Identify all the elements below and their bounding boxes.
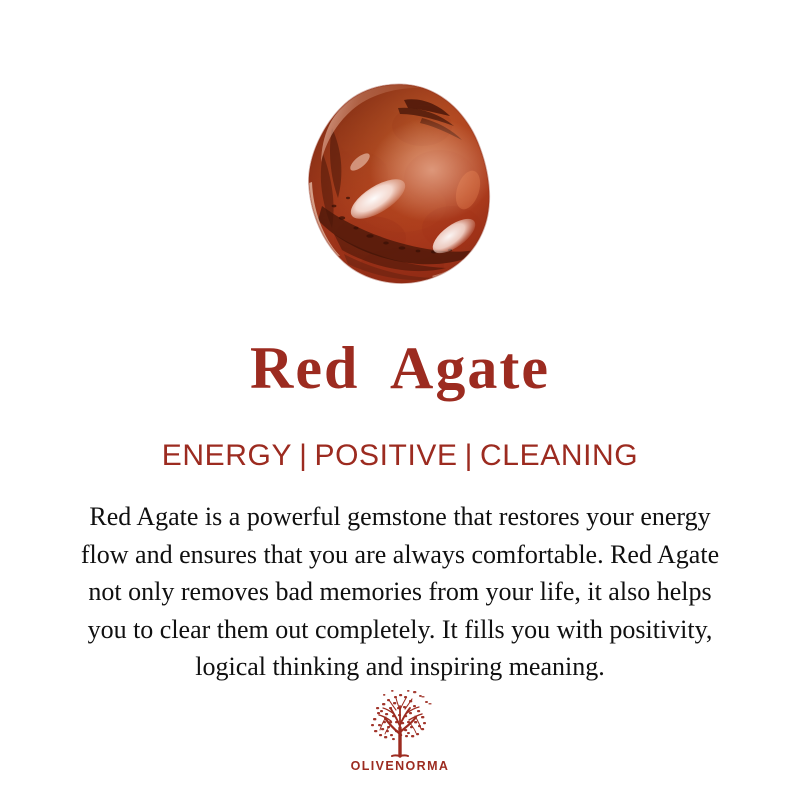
product-info-card: Red Agate ENERGY|POSITIVE|CLEANING Red A…: [0, 0, 800, 800]
keyword-separator: |: [292, 437, 314, 475]
description-line: you to clear them out completely. It fil…: [22, 611, 778, 649]
keyword-list: ENERGY|POSITIVE|CLEANING: [0, 437, 800, 475]
page-title: Red Agate: [0, 334, 800, 402]
keyword-separator: |: [458, 437, 480, 475]
description-line: logical thinking and inspiring meaning.: [22, 648, 778, 686]
description-line: Red Agate is a powerful gemstone that re…: [22, 498, 778, 536]
description-line: not only removes bad memories from your …: [22, 573, 778, 611]
product-image-area: [0, 0, 800, 320]
keyword-positive: POSITIVE: [314, 439, 457, 472]
keyword-cleaning: CLEANING: [480, 439, 638, 472]
gemstone-illustration: [282, 78, 522, 294]
gemstone-image: [282, 78, 522, 294]
description-text: Red Agate is a powerful gemstone that re…: [22, 498, 778, 686]
gemstone-body: [282, 78, 522, 294]
brand-wordmark: OLIVENORMA: [0, 759, 800, 773]
tree-logo-icon: [361, 688, 439, 758]
brand-logo: OLIVENORMA: [0, 688, 800, 773]
keyword-energy: ENERGY: [162, 439, 292, 472]
description-line: flow and ensures that you are always com…: [22, 536, 778, 574]
